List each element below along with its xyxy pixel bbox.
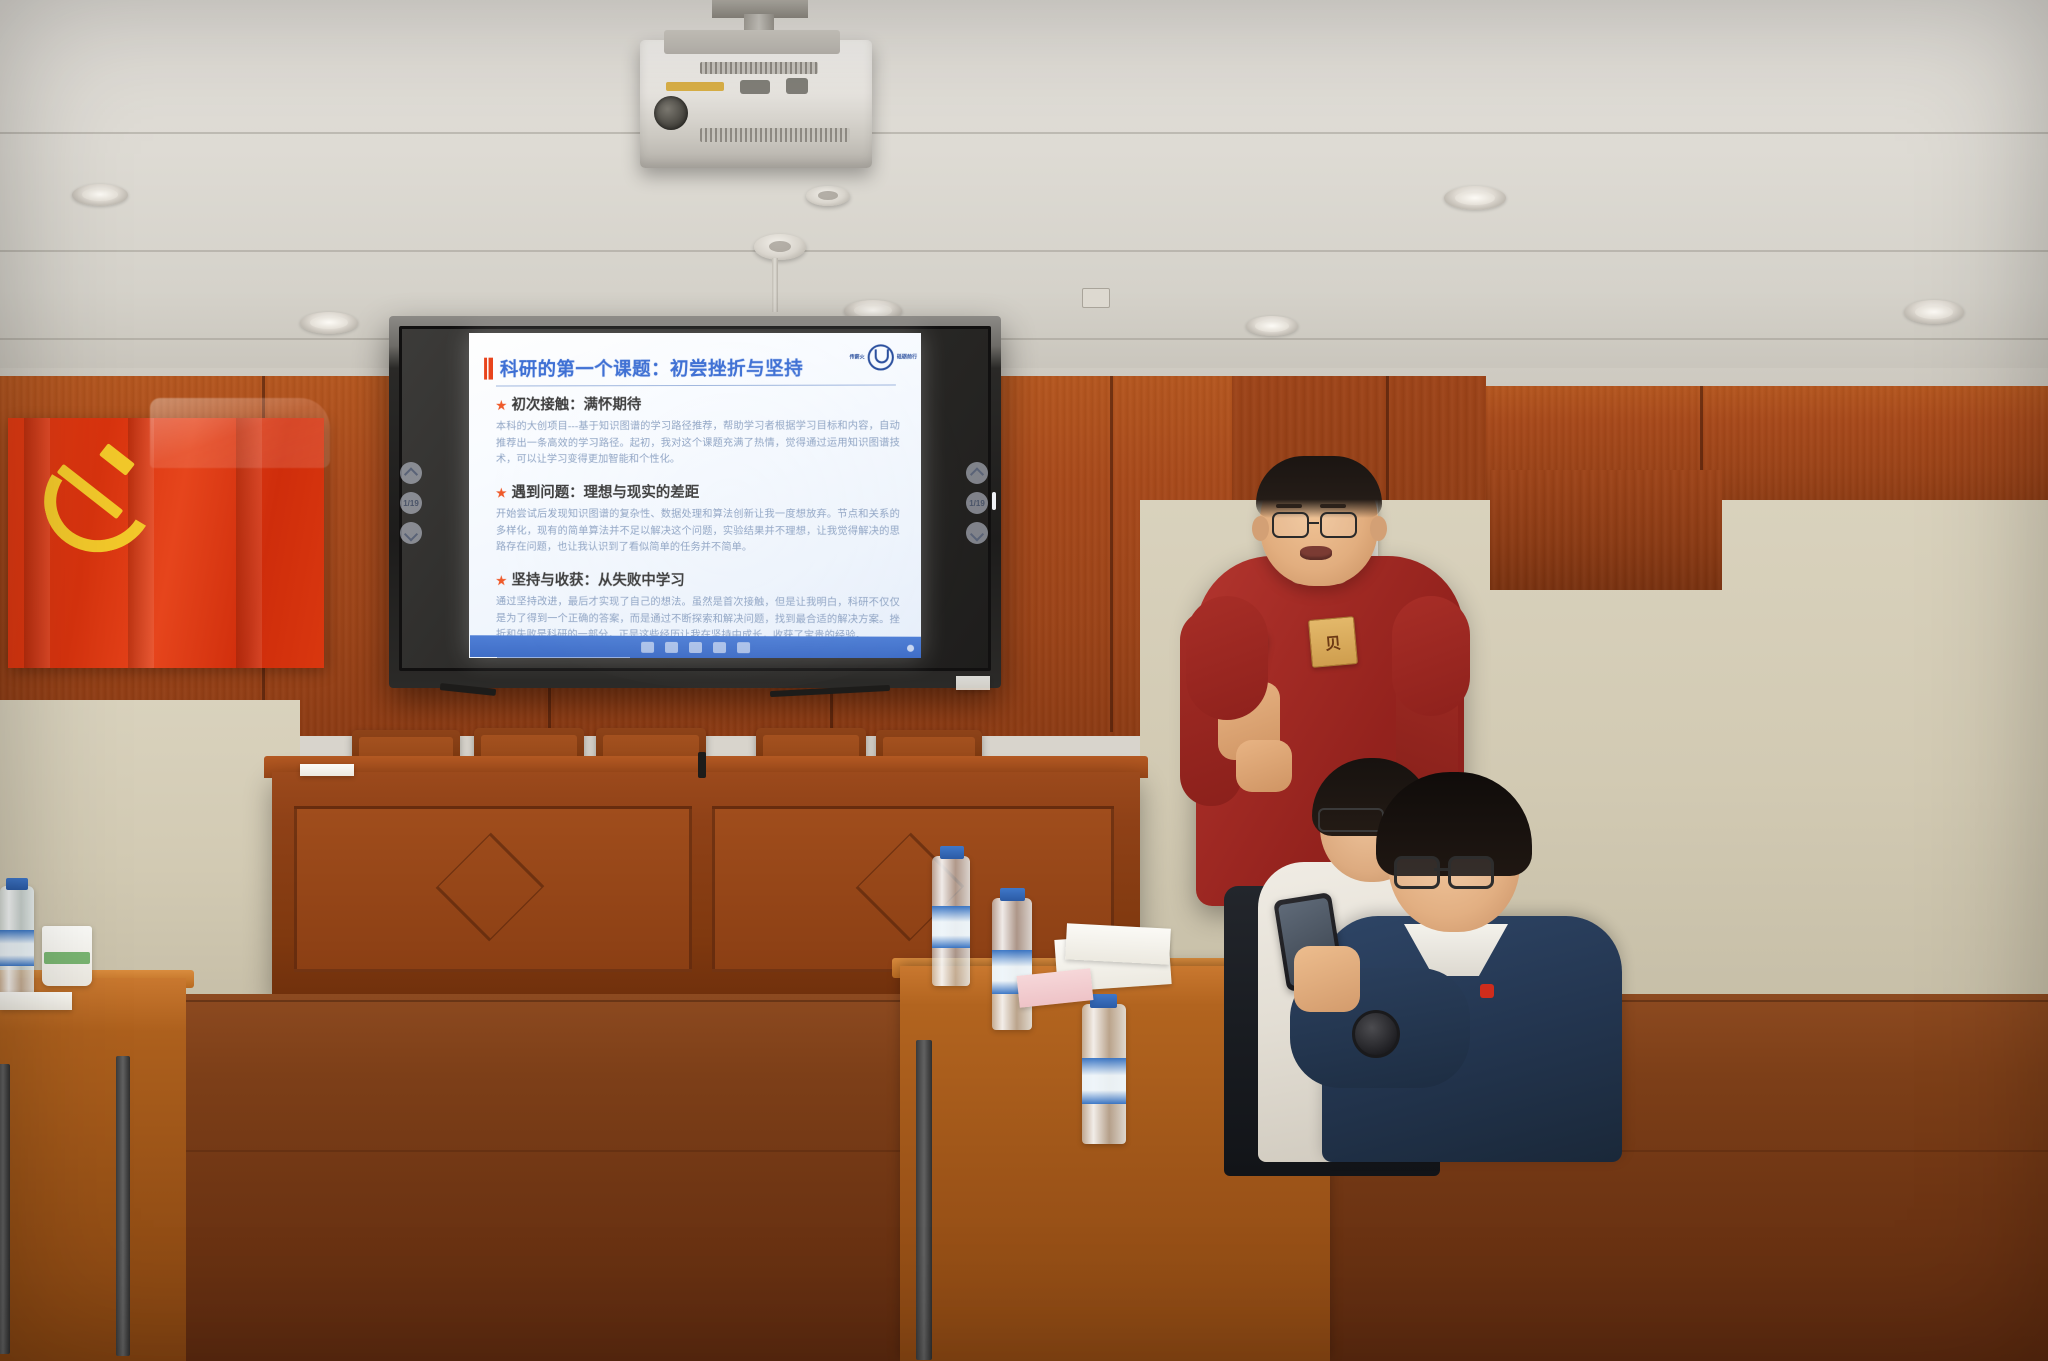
cup-band (44, 952, 90, 964)
smoke-detector (806, 186, 850, 206)
star-bullet-icon: ★ (496, 399, 507, 411)
bottle-label (1082, 1058, 1126, 1104)
display-scroll-up-button[interactable] (966, 462, 988, 484)
section-body-text: 开始尝试后发现知识图谱的复杂性、数据处理和算法创新让我一度想放弃。节点和关系的多… (496, 507, 900, 557)
table-leg (0, 1064, 10, 1354)
toolbar-more-icon[interactable] (737, 642, 750, 653)
slide-title-row: 科研的第一个课题：初尝挫折与坚持 (484, 354, 894, 381)
left-table (0, 978, 186, 1361)
display-status-led (992, 492, 996, 510)
podium-panel (712, 806, 1114, 972)
projector-port (740, 80, 770, 94)
projector-port (786, 78, 808, 94)
toolbar-close-icon[interactable] (907, 645, 914, 652)
section-body-text: 本科的大创项目---基于知识图谱的学习路径推荐，帮助学习者根据学习目标和内容，自… (496, 419, 900, 469)
toolbar-pen-icon[interactable] (641, 641, 654, 652)
podium-paper (300, 764, 354, 776)
podium-panel (294, 806, 692, 972)
display-scroll-down-button[interactable] (966, 522, 988, 544)
display-sticker (956, 676, 990, 690)
table-leg (116, 1056, 130, 1356)
attendee-2-glasses-bridge (1434, 868, 1448, 871)
section-heading: ★ 遇到问题：理想与现实的差距 (496, 481, 900, 502)
attendee-2-hand (1294, 946, 1360, 1012)
section-heading-text: 遇到问题：理想与现实的差距 (512, 481, 700, 502)
presenter-sleeve (1392, 596, 1470, 716)
attendee-2-glasses-left-lens (1394, 856, 1440, 889)
table-paper (0, 992, 72, 1010)
presenter-eyebrow (1320, 504, 1346, 508)
title-underline (496, 384, 896, 386)
flag-plastic-wrap (150, 398, 330, 468)
presenter-ear (1370, 516, 1387, 541)
ceiling-downlight (300, 312, 358, 334)
ceiling-seam (0, 338, 2048, 340)
projector-top-cover (664, 30, 840, 54)
projector-vent (700, 128, 850, 142)
presenter-glasses-bridge (1307, 522, 1319, 524)
toolbar-undo-icon[interactable] (713, 642, 726, 653)
presenter-mouth (1300, 546, 1332, 560)
attendee-1-glasses (1318, 808, 1384, 832)
display-scroll-down-button-left[interactable] (400, 522, 422, 544)
ceiling-downlight (72, 184, 128, 206)
section-heading-text: 初次接触：满怀期待 (512, 393, 642, 414)
logo-subtitle-2: 砥砺前行 (897, 354, 917, 360)
wristwatch (1352, 1010, 1400, 1058)
projector-label (666, 82, 724, 91)
presenter-name-badge: 贝 (1308, 616, 1358, 668)
attendee-2-glasses-right-lens (1448, 856, 1494, 889)
presenter-glasses-right-lens (1320, 512, 1357, 538)
bottle-label (0, 930, 34, 966)
slide-section-1: ★ 初次接触：满怀期待 本科的大创项目---基于知识图谱的学习路径推荐，帮助学习… (496, 393, 900, 469)
ceiling-seam (0, 132, 2048, 134)
bottle-cap[interactable] (1090, 994, 1117, 1008)
section-heading-text: 坚持与收获：从失败中学习 (512, 569, 685, 590)
slide-bottom-toolbar[interactable] (470, 635, 921, 658)
projector-vent (700, 62, 818, 74)
slide-section-3: ★ 坚持与收获：从失败中学习 通过坚持改进，最后才实现了自己的想法。虽然是首次接… (496, 569, 900, 646)
wood-seam (1110, 376, 1113, 732)
bottle-label (932, 906, 970, 948)
toolbar-select-icon[interactable] (689, 641, 702, 652)
ceiling-seam (0, 250, 2048, 252)
bottle-cap[interactable] (1000, 888, 1025, 901)
star-bullet-icon: ★ (496, 575, 507, 587)
section-heading: ★ 初次接触：满怀期待 (496, 393, 900, 415)
sprinkler-pipe (772, 258, 778, 312)
presentation-slide: 传薪火 砥砺前行 科研的第一个课题：初尝挫折与坚持 ★ 初次接触：满怀期待 本科… (469, 333, 921, 658)
podium-diamond-inlay (436, 833, 545, 942)
wall-door-frame (1490, 470, 1722, 590)
display-scroll-up-button-left[interactable] (400, 462, 422, 484)
podium-microphone-stem (698, 752, 706, 778)
projector-lens (654, 96, 688, 130)
bottle-cap[interactable] (6, 878, 28, 890)
document-stack[interactable] (1065, 923, 1171, 964)
presenter-hair (1256, 456, 1382, 518)
presenter-eyebrow (1276, 504, 1302, 508)
ceiling-downlight (1444, 186, 1506, 210)
presenter-sleeve (1186, 596, 1268, 720)
presenter-glasses-left-lens (1272, 512, 1309, 538)
ceiling-downlight (1904, 300, 1964, 324)
section-heading: ★ 坚持与收获：从失败中学习 (496, 569, 900, 591)
flag-fold (24, 418, 50, 668)
display-page-indicator[interactable]: 1/19 (966, 492, 988, 514)
star-bullet-icon: ★ (496, 487, 507, 499)
slide-section-2: ★ 遇到问题：理想与现实的差距 开始尝试后发现知识图谱的复杂性、数据处理和算法创… (496, 481, 900, 557)
presenter-badge-text: 贝 (1324, 629, 1342, 654)
presenter-other-hand (1236, 740, 1292, 792)
attendee-2-lapel-pin (1480, 984, 1494, 998)
bottle-cap[interactable] (940, 846, 964, 859)
slide-title: 科研的第一个课题：初尝挫折与坚持 (500, 355, 803, 382)
title-accent-bar (484, 358, 493, 380)
smoke-detector (754, 234, 806, 260)
toolbar-eraser-icon[interactable] (665, 641, 678, 652)
wall-socket (1082, 288, 1110, 308)
display-page-indicator-left[interactable]: 1/19 (400, 492, 422, 514)
ceiling-downlight (1246, 316, 1298, 336)
conference-room-photo: 传薪火 砥砺前行 科研的第一个课题：初尝挫折与坚持 ★ 初次接触：满怀期待 本科… (0, 0, 2048, 1361)
presenter-ear (1252, 516, 1269, 541)
table-leg (916, 1040, 932, 1360)
